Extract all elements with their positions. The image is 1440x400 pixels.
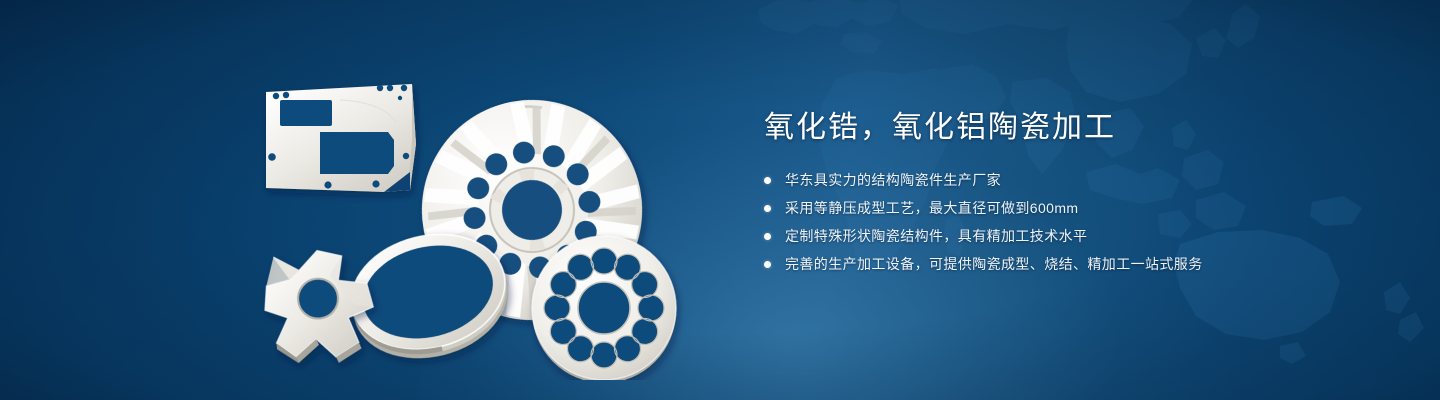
bullet-dot-icon	[764, 205, 771, 212]
bullet-dot-icon	[764, 261, 771, 268]
feature-text: 华东具实力的结构陶瓷件生产厂家	[785, 170, 1001, 191]
list-item: 华东具实力的结构陶瓷件生产厂家	[764, 170, 1364, 191]
ceramic-products-banner: 氧化锆，氧化铝陶瓷加工 华东具实力的结构陶瓷件生产厂家 采用等静压成型工艺，最大…	[0, 0, 1440, 400]
page-title: 氧化锆，氧化铝陶瓷加工	[764, 108, 1364, 148]
ceramic-products-image	[232, 40, 712, 380]
feature-text: 定制特殊形状陶瓷结构件，具有精加工技术水平	[785, 226, 1087, 247]
bullet-dot-icon	[764, 233, 771, 240]
feature-list: 华东具实力的结构陶瓷件生产厂家 采用等静压成型工艺，最大直径可做到600mm 定…	[764, 170, 1364, 275]
list-item: 定制特殊形状陶瓷结构件，具有精加工技术水平	[764, 226, 1364, 247]
banner-copy: 氧化锆，氧化铝陶瓷加工 华东具实力的结构陶瓷件生产厂家 采用等静压成型工艺，最大…	[764, 108, 1364, 282]
feature-text: 完善的生产加工设备，可提供陶瓷成型、烧结、精加工一站式服务	[785, 254, 1203, 275]
feature-text: 采用等静压成型工艺，最大直径可做到600mm	[785, 198, 1078, 219]
list-item: 完善的生产加工设备，可提供陶瓷成型、烧结、精加工一站式服务	[764, 254, 1364, 275]
bullet-dot-icon	[764, 177, 771, 184]
ceramic-cross-part-shape	[259, 245, 378, 370]
ceramic-perforated-disc-shape	[532, 236, 676, 380]
ceramic-plate-shape	[266, 84, 416, 192]
list-item: 采用等静压成型工艺，最大直径可做到600mm	[764, 198, 1364, 219]
